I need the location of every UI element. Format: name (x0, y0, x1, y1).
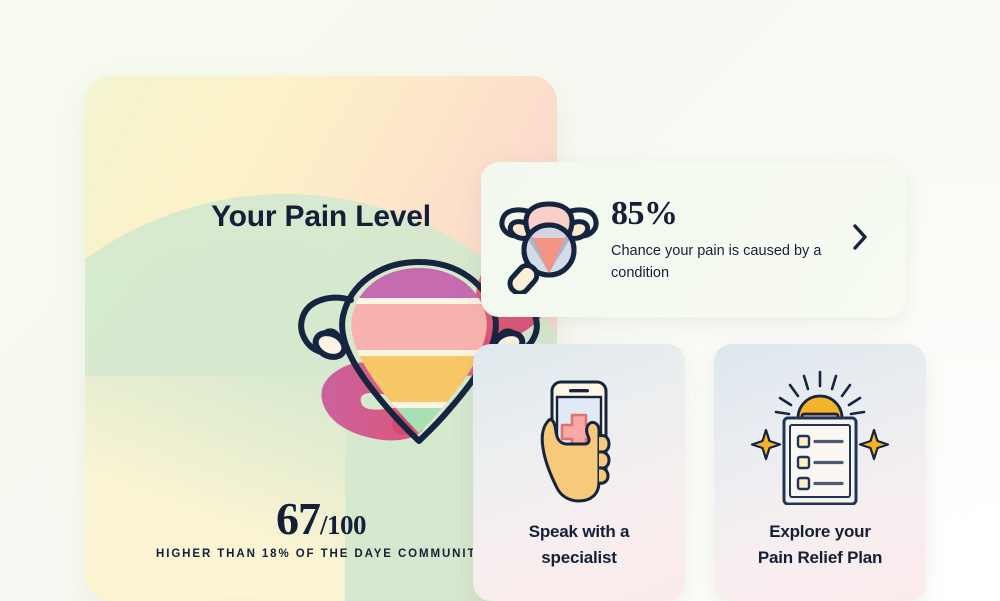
speak-with-specialist-label-line1: Speak with a (473, 519, 685, 545)
chevron-right-icon[interactable] (850, 222, 870, 257)
explore-pain-relief-plan-label-line1: Explore your (714, 519, 926, 545)
pain-score-value: 67 (276, 493, 320, 544)
explore-pain-relief-plan-label: Explore your Pain Relief Plan (714, 519, 926, 571)
condition-chance-card[interactable]: 85% Chance your pain is caused by a cond… (481, 162, 906, 317)
explore-pain-relief-plan-card[interactable]: Explore your Pain Relief Plan (714, 344, 926, 601)
condition-description: Chance your pain is caused by a conditio… (611, 240, 850, 284)
speak-with-specialist-label: Speak with a specialist (473, 519, 685, 571)
hand-holding-phone-icon (473, 370, 685, 505)
clipboard-checklist-sunrise-icon (714, 370, 926, 505)
speak-with-specialist-label-line2: specialist (473, 545, 685, 571)
explore-pain-relief-plan-label-line2: Pain Relief Plan (714, 545, 926, 571)
pain-score-denominator: /100 (320, 510, 366, 540)
uterus-magnifier-icon (493, 186, 605, 294)
speak-with-specialist-card[interactable]: Speak with a specialist (473, 344, 685, 601)
condition-percentage: 85% (611, 195, 850, 232)
